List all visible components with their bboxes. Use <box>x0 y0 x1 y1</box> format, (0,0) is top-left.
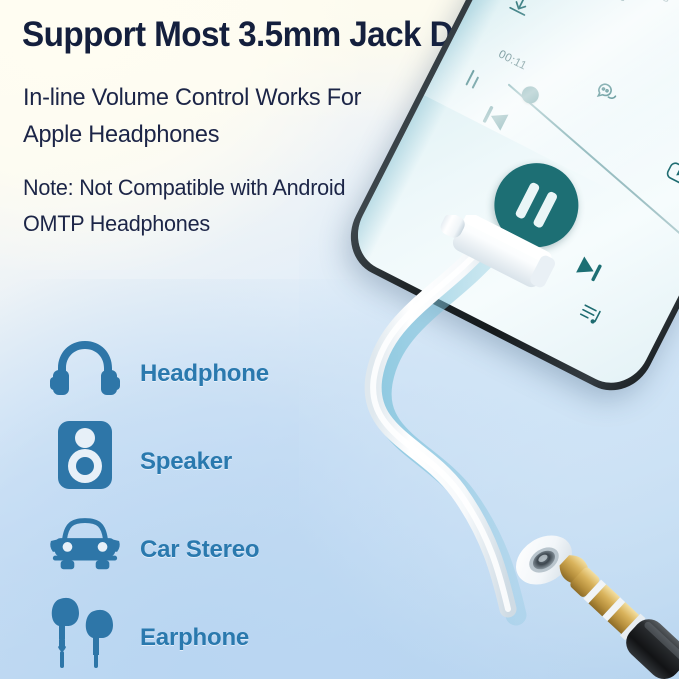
supported-devices-list: Headphone Speaker <box>40 330 370 679</box>
headphone-icon <box>48 330 122 404</box>
product-image-canvas: Support Most 3.5mm Jack Devices In-line … <box>0 0 679 679</box>
subheading-line-1: In-line Volume Control Works For <box>23 79 474 116</box>
list-item-label: Earphone <box>140 624 249 652</box>
3-5mm-trrs-plug <box>540 540 679 679</box>
list-item-label: Headphone <box>140 360 269 388</box>
list-item: Earphone <box>40 594 370 679</box>
car-stereo-icon <box>48 506 122 580</box>
earphone-icon <box>48 594 122 668</box>
list-item: Speaker <box>40 418 370 506</box>
list-item-label: Car Stereo <box>140 536 259 564</box>
speaker-icon <box>48 418 122 492</box>
list-item-label: Speaker <box>140 448 232 476</box>
list-item: Car Stereo <box>40 506 370 594</box>
list-item: Headphone <box>40 330 370 418</box>
